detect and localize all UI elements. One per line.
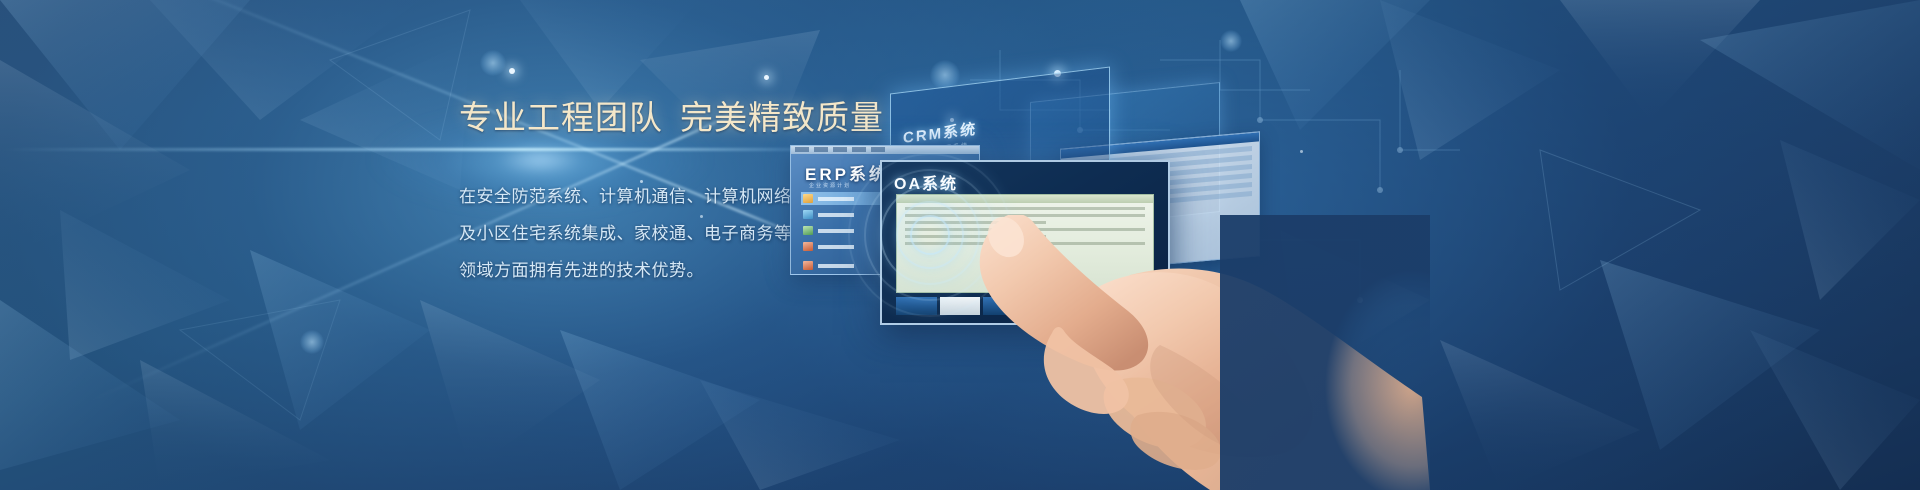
- box-icon: [803, 226, 813, 235]
- erp-nav-label: [818, 213, 854, 217]
- erp-menubar[interactable]: [791, 146, 979, 154]
- erp-menu-item[interactable]: [795, 147, 809, 152]
- erp-menu-item[interactable]: [871, 147, 885, 152]
- star-dot: [509, 68, 515, 74]
- erp-window-subtitle: 企业资源计划: [809, 182, 851, 189]
- folder-icon: [803, 194, 813, 203]
- software-screens-montage: CRM系统 客户关系管理系统 ERP系统 企业资源计划: [760, 0, 1520, 490]
- headline-part-1: 专业工程团队: [459, 101, 663, 137]
- bokeh-dot: [300, 330, 324, 354]
- chart-icon: [803, 242, 813, 251]
- table-icon: [803, 261, 813, 270]
- erp-menu-item[interactable]: [833, 147, 847, 152]
- erp-menu-item[interactable]: [852, 147, 866, 152]
- bokeh-dot: [480, 50, 506, 76]
- erp-menu-item[interactable]: [814, 147, 828, 152]
- globe-icon: [803, 210, 813, 219]
- hero-banner: 专业工程团队完美精致质量 在安全防范系统、计算机通信、计算机网络、智能大厦 及小…: [0, 0, 1920, 490]
- erp-nav-label: [818, 264, 854, 268]
- erp-nav-label: [818, 197, 854, 201]
- pointing-hand-graphic: [960, 215, 1430, 490]
